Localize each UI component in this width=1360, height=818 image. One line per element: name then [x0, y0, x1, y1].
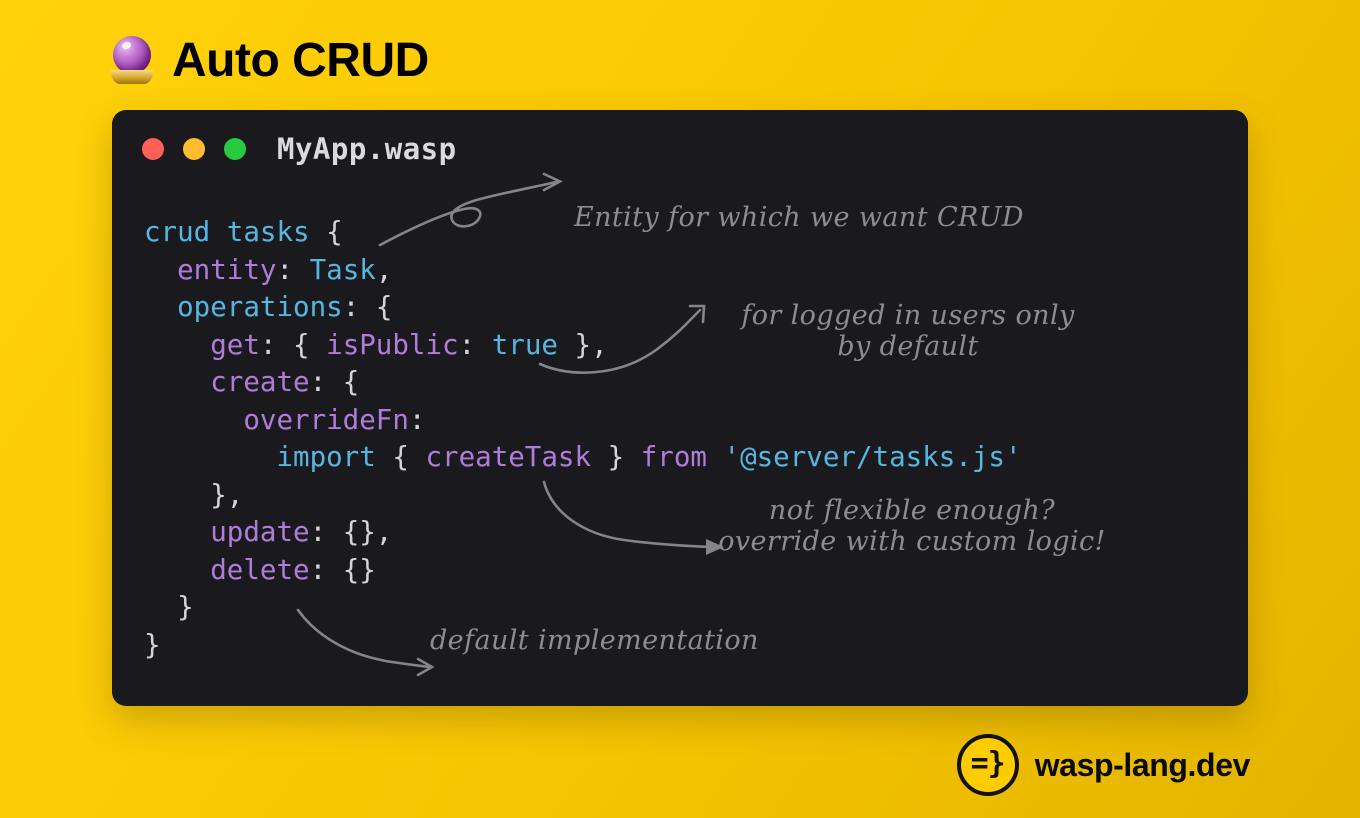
maximize-button[interactable]: [224, 138, 246, 160]
code-token: {: [326, 216, 343, 248]
code-token: createTask: [425, 441, 591, 473]
code-token: : {: [343, 291, 393, 323]
slide-root: Auto CRUD MyApp.wasp crud tasks { entity…: [0, 0, 1360, 818]
code-token: isPublic: [326, 329, 458, 361]
code-token: :: [276, 254, 309, 286]
annotation-default: default implementation: [430, 625, 759, 656]
footer-url-text: wasp-lang.dev: [1035, 747, 1250, 784]
code-line: overrideFn:: [144, 402, 1022, 440]
code-line: create: {: [144, 364, 1022, 402]
code-token: get: [210, 329, 260, 361]
code-token: delete: [210, 554, 309, 586]
code-token: : {}: [310, 554, 376, 586]
wasp-logo-glyph: =}: [971, 749, 1005, 779]
code-block[interactable]: crud tasks { entity: Task, operations: {…: [144, 214, 1022, 664]
code-token: from: [641, 441, 707, 473]
code-token: }: [144, 629, 161, 661]
code-token: }: [177, 591, 194, 623]
code-token: ,: [376, 254, 393, 286]
code-window: MyApp.wasp crud tasks { entity: Task, op…: [112, 110, 1248, 706]
annotation-auth: for logged in users only by default: [708, 300, 1108, 362]
code-token: [707, 441, 724, 473]
code-window-titlebar: MyApp.wasp: [112, 110, 457, 188]
annotation-entity: Entity for which we want CRUD: [574, 202, 1024, 233]
code-token: : {: [310, 366, 360, 398]
code-token: operations: [177, 291, 343, 323]
filename-label: MyApp.wasp: [277, 132, 457, 166]
code-token: update: [210, 516, 309, 548]
code-token: :: [409, 404, 426, 436]
code-token: {: [376, 441, 426, 473]
annotation-override: not flexible enough? override with custo…: [692, 495, 1132, 557]
page-title-text: Auto CRUD: [172, 33, 429, 88]
page-title: Auto CRUD: [110, 28, 429, 92]
code-token: :: [459, 329, 492, 361]
minimize-button[interactable]: [183, 138, 205, 160]
code-token: crud tasks: [144, 216, 310, 248]
code-token: },: [210, 479, 243, 511]
crystal-ball-icon: [110, 34, 156, 86]
wasp-logo-icon: =}: [957, 734, 1019, 796]
code-token: overrideFn: [243, 404, 409, 436]
code-line: }: [144, 589, 1022, 627]
code-line: delete: {}: [144, 552, 1022, 590]
code-token: import: [276, 441, 375, 473]
code-token: create: [210, 366, 309, 398]
code-token: '@server/tasks.js': [724, 441, 1022, 473]
code-token: [310, 216, 327, 248]
footer-brand[interactable]: =} wasp-lang.dev: [957, 734, 1250, 796]
code-token: true: [492, 329, 558, 361]
code-token: : {: [260, 329, 326, 361]
code-line: import { createTask } from '@server/task…: [144, 439, 1022, 477]
code-token: entity: [177, 254, 276, 286]
code-token: : {},: [310, 516, 393, 548]
code-line: entity: Task,: [144, 252, 1022, 290]
code-token: },: [558, 329, 608, 361]
code-token: }: [591, 441, 641, 473]
close-button[interactable]: [142, 138, 164, 160]
code-token: Task: [310, 254, 376, 286]
